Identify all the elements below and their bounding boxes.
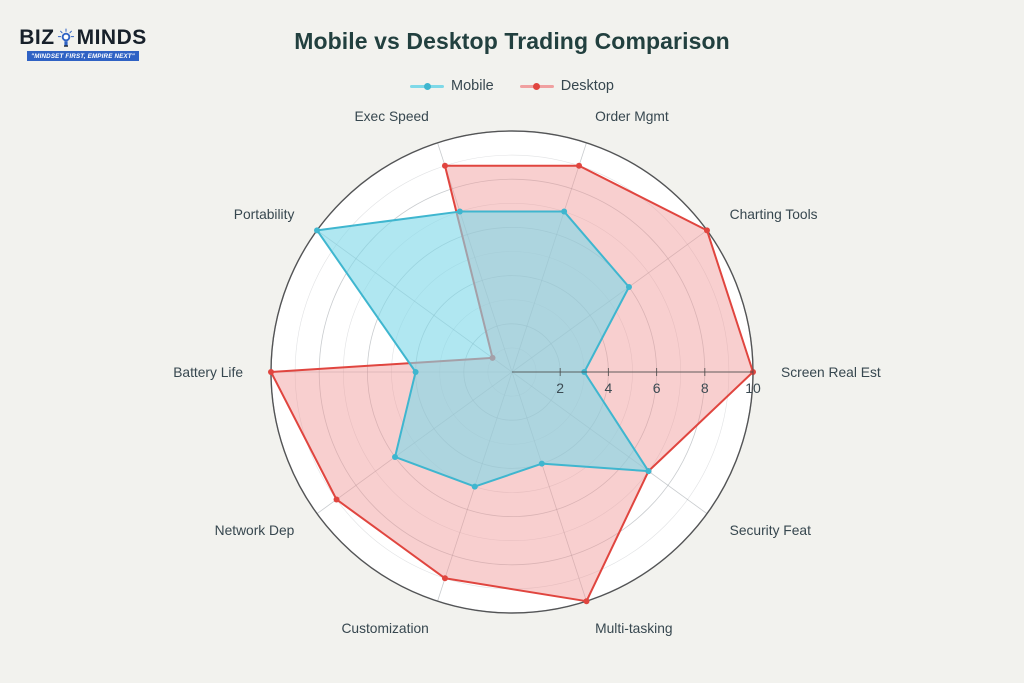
radial-tick-label-8: 8 <box>701 380 709 396</box>
radial-tick-label-4: 4 <box>605 380 613 396</box>
axis-label-network-dep[interactable]: Network Dep <box>215 523 295 538</box>
axis-label-battery-life[interactable]: Battery Life <box>173 365 243 380</box>
datapoint-desktop-8[interactable] <box>583 598 589 604</box>
axis-label-multi-tasking[interactable]: Multi-tasking <box>595 621 672 636</box>
datapoint-mobile-5[interactable] <box>413 369 419 375</box>
axis-label-charting-tools[interactable]: Charting Tools <box>730 207 818 222</box>
radial-tick-label-2: 2 <box>556 380 564 396</box>
datapoint-mobile-1[interactable] <box>626 284 632 290</box>
radial-tick-label-10: 10 <box>745 380 761 396</box>
radial-tick-label-6: 6 <box>653 380 661 396</box>
axis-label-customization[interactable]: Customization <box>341 621 428 636</box>
datapoint-mobile-8[interactable] <box>539 461 545 467</box>
datapoint-mobile-6[interactable] <box>392 454 398 460</box>
axis-label-exec-speed[interactable]: Exec Speed <box>354 109 428 124</box>
datapoint-desktop-1[interactable] <box>704 227 710 233</box>
datapoint-desktop-3[interactable] <box>442 163 448 169</box>
axis-label-portability[interactable]: Portability <box>234 207 295 222</box>
datapoint-desktop-5[interactable] <box>268 369 274 375</box>
page-root: BIZ MINDS "MINDSET FIR <box>0 0 1024 683</box>
datapoint-mobile-2[interactable] <box>561 209 567 215</box>
datapoint-desktop-6[interactable] <box>334 496 340 502</box>
datapoint-mobile-7[interactable] <box>472 484 478 490</box>
axis-label-order-mgmt[interactable]: Order Mgmt <box>595 109 669 124</box>
axis-label-security-feat[interactable]: Security Feat <box>730 523 811 538</box>
datapoint-desktop-7[interactable] <box>442 575 448 581</box>
datapoint-desktop-2[interactable] <box>576 163 582 169</box>
radar-chart: 246810Screen Real EstCharting ToolsOrder… <box>0 0 1024 683</box>
datapoint-mobile-3[interactable] <box>457 209 463 215</box>
axis-label-screen-real-est[interactable]: Screen Real Est <box>781 365 881 380</box>
datapoint-mobile-4[interactable] <box>314 227 320 233</box>
datapoint-mobile-9[interactable] <box>645 468 651 474</box>
